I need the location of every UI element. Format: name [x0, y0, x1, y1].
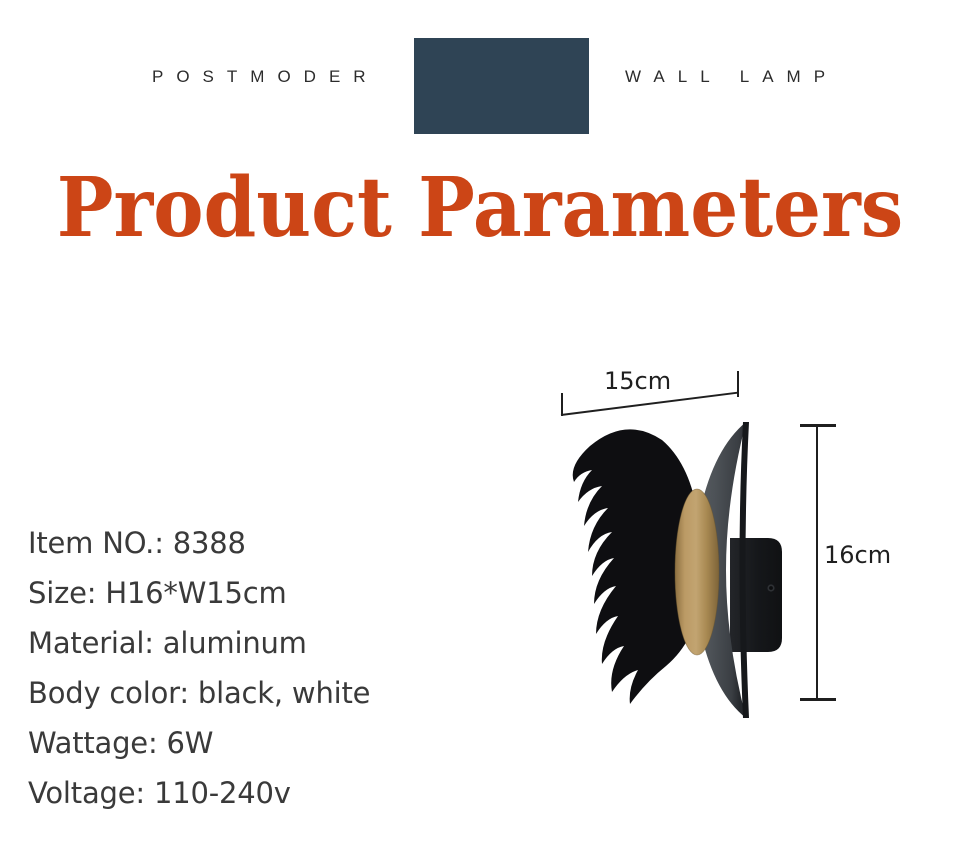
- spec-size: Size: H16*W15cm: [28, 568, 498, 618]
- butterfly-wall-lamp-image: [550, 420, 810, 720]
- spec-material: Material: aluminum: [28, 618, 498, 668]
- spec-item-no: Item NO.: 8388: [28, 518, 498, 568]
- header-right-word: WALL LAMP: [625, 68, 838, 85]
- spec-list: Item NO.: 8388 Size: H16*W15cm Material:…: [28, 518, 498, 818]
- width-dimension-tick-left: [561, 393, 563, 416]
- header-band: POSTMODER WALL LAMP: [0, 0, 960, 150]
- height-dimension-label: 16cm: [824, 541, 891, 569]
- header-left-word: POSTMODER: [152, 68, 379, 85]
- width-dimension-label: 15cm: [604, 367, 671, 395]
- header-color-block: [414, 38, 589, 134]
- height-dimension-tick-bottom: [800, 698, 836, 701]
- spec-wattage: Wattage: 6W: [28, 718, 498, 768]
- height-dimension-line: [816, 425, 818, 701]
- spec-voltage: Voltage: 110-240v: [28, 768, 498, 818]
- width-dimension-tick-right: [737, 371, 739, 397]
- page-title: Product Parameters: [38, 160, 921, 256]
- spec-body-color: Body color: black, white: [28, 668, 498, 718]
- height-dimension-tick-top: [800, 424, 836, 427]
- width-dimension-line: [561, 392, 738, 416]
